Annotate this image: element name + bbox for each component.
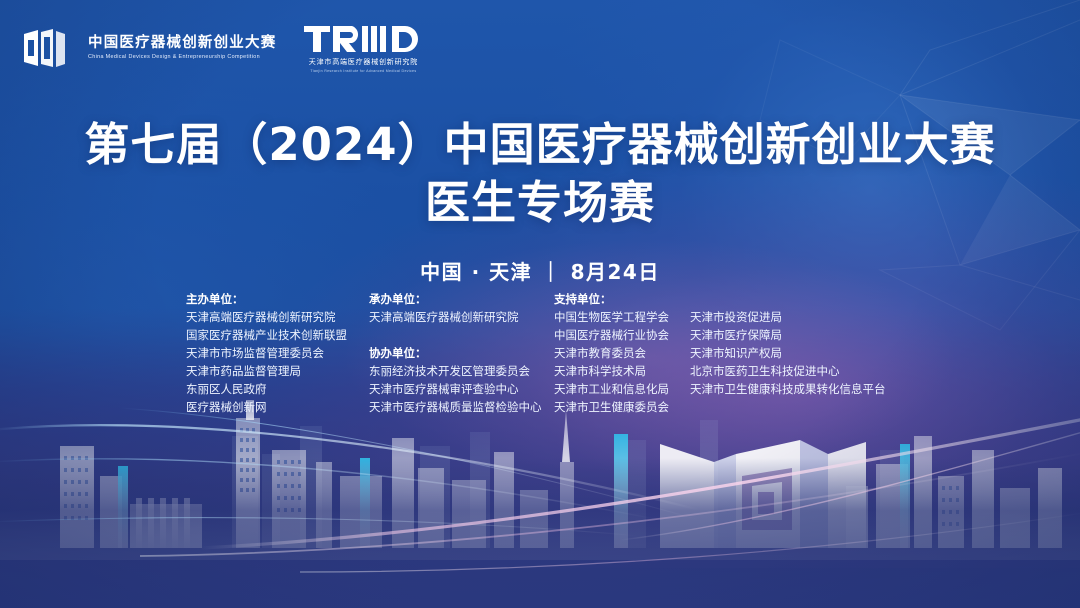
poster-title: 第七届（2024）中国医疗器械创新创业大赛 医生专场赛 [0,116,1080,231]
host-heading: 承办单位： [369,290,554,308]
organizer-item: 天津高端医疗器械创新研究院 [186,308,369,326]
supporter-item: 天津市卫生健康委员会 [554,398,690,416]
organizer-item: 医疗器械创新网 [186,398,369,416]
supporter-item: 天津市教育委员会 [554,344,690,362]
event-location-date: 中国 · 天津 ｜ 8月24日 [0,256,1080,285]
supporters-column-continued: 天津市投资促进局 天津市医疗保障局 天津市知识产权局 北京市医药卫生科技促进中心… [690,290,886,398]
trimd-wordmark-icon [304,24,422,54]
co-organizer-heading: 协办单位： [369,344,554,362]
header-logo-row: 中国医疗器械创新创业大赛 China Medical Devices Desig… [22,24,422,73]
supporter-item: 天津市工业和信息化局 [554,380,690,398]
supporter-item: 天津市卫生健康科技成果转化信息平台 [690,380,886,398]
supporter-item: 天津市医疗保障局 [690,326,886,344]
poster-canvas: 中国医疗器械创新创业大赛 China Medical Devices Desig… [0,0,1080,608]
supporter-item: 天津市知识产权局 [690,344,886,362]
organizers-heading: 主办单位： [186,290,369,308]
supporter-item: 北京市医药卫生科技促进中心 [690,362,886,380]
organizations-block: 主办单位： 天津高端医疗器械创新研究院 国家医疗器械产业技术创新联盟 天津市市场… [186,290,926,416]
organizer-item: 东丽区人民政府 [186,380,369,398]
title-line-1: 第七届（2024）中国医疗器械创新创业大赛 [0,116,1080,174]
open-door-logo-icon [22,28,66,68]
co-organizer-item: 东丽经济技术开发区管理委员会 [369,362,554,380]
supporters-column: 支持单位： 中国生物医学工程学会 中国医疗器械行业协会 天津市教育委员会 天津市… [554,290,690,416]
supporter-item: 中国医疗器械行业协会 [554,326,690,344]
institute-name-en: Tianjin Research Institute for Advanced … [310,69,416,73]
competition-logo-text: 中国医疗器械创新创业大赛 China Medical Devices Desig… [88,35,276,61]
organizer-item: 国家医疗器械产业技术创新联盟 [186,326,369,344]
organizer-item: 天津市药品监督管理局 [186,362,369,380]
supporter-item: 天津市投资促进局 [690,308,886,326]
co-organizer-item: 天津市医疗器械质量监督检验中心 [369,398,554,416]
organizers-column: 主办单位： 天津高端医疗器械创新研究院 国家医疗器械产业技术创新联盟 天津市市场… [186,290,369,416]
supporter-item: 中国生物医学工程学会 [554,308,690,326]
co-organizer-item: 天津市医疗器械审评查验中心 [369,380,554,398]
supporters-heading: 支持单位： [554,290,690,308]
competition-name-cn: 中国医疗器械创新创业大赛 [88,35,276,52]
supporter-item: 天津市科学技术局 [554,362,690,380]
competition-name-en: China Medical Devices Design & Entrepren… [88,54,276,61]
institute-logo: 天津市高端医疗器械创新研究院 Tianjin Research Institut… [304,24,422,73]
host-item: 天津高端医疗器械创新研究院 [369,308,554,326]
organizer-item: 天津市市场监督管理委员会 [186,344,369,362]
column-spacer [369,326,554,344]
hosts-column: 承办单位： 天津高端医疗器械创新研究院 协办单位： 东丽经济技术开发区管理委员会… [369,290,554,416]
institute-name-cn: 天津市高端医疗器械创新研究院 [309,57,418,67]
title-line-2: 医生专场赛 [0,174,1080,232]
